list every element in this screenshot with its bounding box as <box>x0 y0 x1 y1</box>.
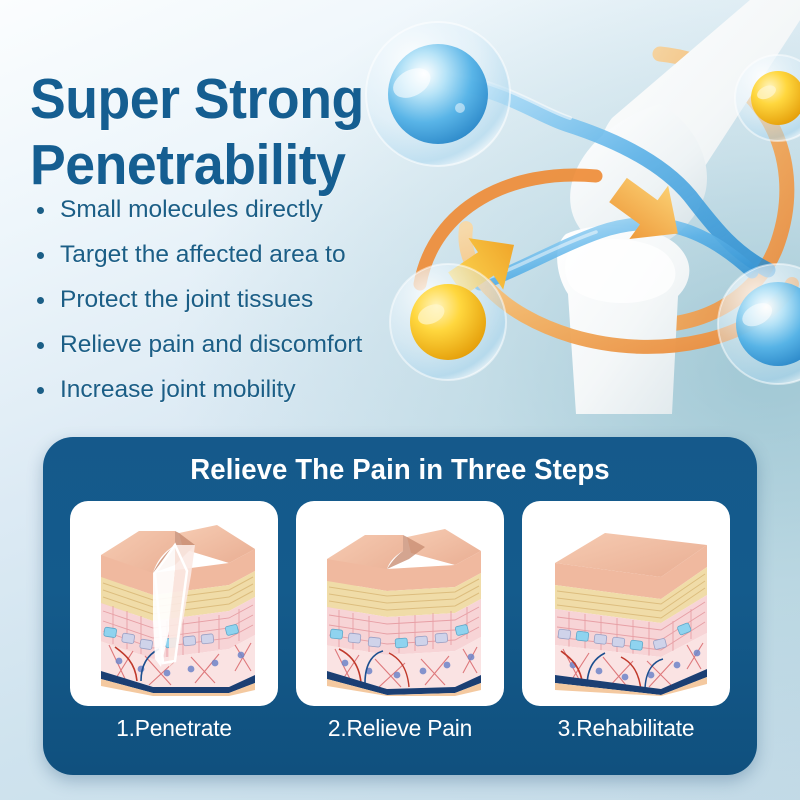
water-stream <box>446 74 768 284</box>
headline-line-2: Penetrability <box>30 132 406 198</box>
orange-orbit-ring-back <box>622 54 787 325</box>
femur-bone <box>570 0 800 252</box>
page-title: Super Strong Penetrability <box>30 66 406 198</box>
headline-line-1: Super Strong <box>30 66 406 132</box>
steps-panel-title: Relieve The Pain in Three Steps <box>61 454 739 487</box>
arrow-into-joint-upper <box>599 163 698 260</box>
skin-cross-section-deep-wound-icon <box>79 511 269 696</box>
list-item-label: Small molecules directly <box>60 196 323 223</box>
list-item: Increase joint mobility <box>34 372 434 408</box>
list-item: Relieve pain and discomfort <box>34 327 434 363</box>
list-item: Small molecules directly <box>34 192 434 228</box>
step-illustration-card-2 <box>296 501 504 706</box>
list-item: Target the affected area to <box>34 237 434 273</box>
benefits-list: Small molecules directly Target the affe… <box>34 192 434 417</box>
steps-panel: Relieve The Pain in Three Steps <box>43 437 757 775</box>
bullet-dot-icon <box>37 252 44 259</box>
bullet-dot-icon <box>37 387 44 394</box>
list-item-label: Increase joint mobility <box>60 376 296 403</box>
arrow-into-joint-lower <box>439 219 532 310</box>
step-item-2: 2.Relieve Pain <box>296 501 504 742</box>
tibia-bone <box>557 226 689 414</box>
bullet-dot-icon <box>37 342 44 349</box>
step-caption-3: 3.Rehabilitate <box>525 715 727 742</box>
step-caption-2: 2.Relieve Pain <box>299 715 501 742</box>
step-illustration-card-3 <box>522 501 730 706</box>
orange-orbit-ring-front <box>420 175 792 347</box>
skin-cross-section-healing-wound-icon <box>305 511 495 696</box>
list-item-label: Target the affected area to <box>60 241 346 268</box>
poster-root: Super Strong Penetrability Small molecul… <box>0 0 800 800</box>
list-item-label: Protect the joint tissues <box>60 286 313 313</box>
skin-cross-section-healed-icon <box>531 511 721 696</box>
bullet-dot-icon <box>37 297 44 304</box>
step-item-3: 3.Rehabilitate <box>522 501 730 742</box>
list-item-label: Relieve pain and discomfort <box>60 331 362 358</box>
bullet-dot-icon <box>37 207 44 214</box>
steps-row: 1.Penetrate <box>70 501 730 742</box>
gold-sphere-upper <box>735 55 800 141</box>
step-caption-1: 1.Penetrate <box>73 715 275 742</box>
step-item-1: 1.Penetrate <box>70 501 278 742</box>
list-item: Protect the joint tissues <box>34 282 434 318</box>
step-illustration-card-1 <box>70 501 278 706</box>
water-droplet-sphere-right <box>718 264 800 384</box>
